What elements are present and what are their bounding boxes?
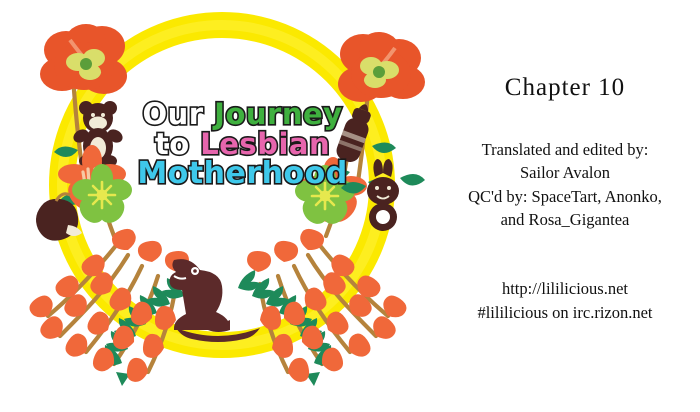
title-word-to: to [155,130,190,160]
credit-line-translator-name: Sailor Avalon [430,161,700,184]
page-title: Our Journey to Lesbian Motherhood [105,100,380,190]
site-url[interactable]: http://lililicious.net [430,277,700,301]
title-word-motherhood: Motherhood [137,159,347,190]
site-block: http://lililicious.net #lililicious on i… [430,277,700,325]
baby-wreath-illustration [0,0,430,412]
title-word-our: Our [142,100,203,130]
credit-line-qc-names: and Rosa_Gigantea [430,208,700,231]
chapter-heading: Chapter 10 [430,74,700,102]
poppy-top-left [40,24,127,94]
poppy-top-right [338,32,425,102]
rocking-horse [170,259,260,342]
credits-panel: Chapter 10 Translated and edited by: Sai… [430,0,700,412]
title-word-lesbian: Lesbian [200,130,330,160]
credits-block: Translated and edited by: Sailor Avalon … [430,138,700,232]
credit-line-qc-by: QC'd by: SpaceTart, Anonko, [430,185,700,208]
title-line-3: Motherhood [105,159,380,190]
title-line-2: to Lesbian [105,130,380,160]
chapter-cover-page: Our Journey to Lesbian Motherhood Chapte… [0,0,700,412]
irc-channel: #lililicious on irc.rizon.net [430,301,700,325]
wreath-svg [0,0,430,412]
title-line-1: Our Journey [105,100,380,130]
title-word-journey: Journey [214,100,342,130]
credit-line-translated-by: Translated and edited by: [430,138,700,161]
